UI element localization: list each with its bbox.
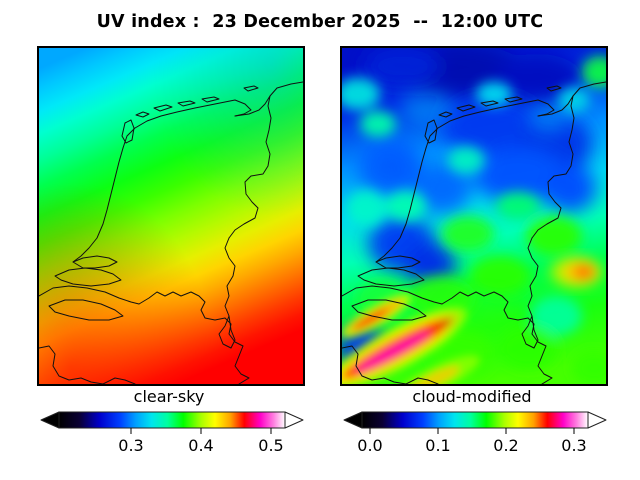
colorbar-cloud-modified-ticklabels: 0.0 0.1 0.2 0.3 xyxy=(340,436,610,460)
colorbar-clear-sky-gradient xyxy=(37,410,307,434)
colorbar-clear-sky-tick-0: 0.3 xyxy=(118,436,143,455)
map-panel-clear-sky xyxy=(37,46,305,386)
clear-sky-uv-field xyxy=(39,48,303,384)
colorbar-cloud-modified-tick-2: 0.2 xyxy=(493,436,518,455)
colorbar-clear-sky-tick-1: 0.4 xyxy=(188,436,213,455)
map-panel-cloud-modified xyxy=(340,46,608,386)
colorbar-cloud-modified-gradient xyxy=(340,410,610,434)
colorbar-clear-sky-ticklabels: 0.3 0.4 0.5 xyxy=(37,436,307,460)
colorbar-cloud-modified: 0.0 0.1 0.2 0.3 xyxy=(340,410,610,470)
uv-index-figure: UV index : 23 December 2025 -- 12:00 UTC xyxy=(0,0,640,480)
colorbar-clear-sky: 0.3 0.4 0.5 xyxy=(37,410,307,470)
panel-caption-clear-sky: clear-sky xyxy=(37,387,301,406)
colorbar-clear-sky-tick-2: 0.5 xyxy=(258,436,283,455)
colorbar-cloud-modified-tick-0: 0.0 xyxy=(357,436,382,455)
colorbar-cloud-modified-tick-1: 0.1 xyxy=(425,436,450,455)
panel-caption-cloud-modified: cloud-modified xyxy=(340,387,604,406)
cloud-modified-uv-field xyxy=(342,48,606,384)
page-title: UV index : 23 December 2025 -- 12:00 UTC xyxy=(0,12,640,32)
colorbar-cloud-modified-tick-3: 0.3 xyxy=(561,436,586,455)
